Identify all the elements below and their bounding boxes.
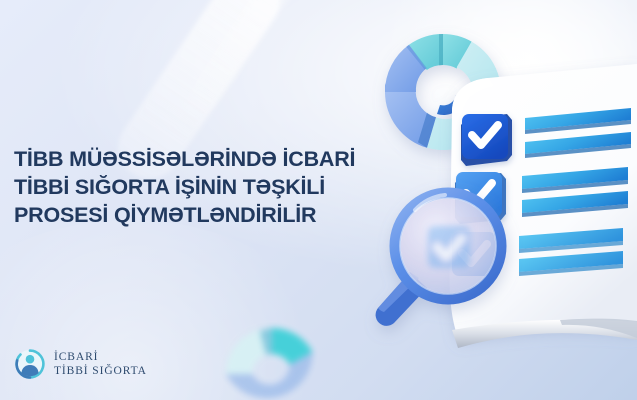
brand-name-line-1: İCBARİ <box>54 350 147 364</box>
headline-line-3: PROSESİ QİYMƏTLƏNDİRİLİR <box>14 202 414 230</box>
brand-logo-text: İCBARİ TİBBİ SIĞORTA <box>54 350 147 378</box>
checkbox-checked-icon <box>461 114 512 166</box>
banner-root: TİBB MÜƏSSİSƏLƏRİNDƏ İCBARİ TİBBİ SIĞORT… <box>0 0 637 400</box>
headline-line-1: TİBB MÜƏSSİSƏLƏRİNDƏ İCBARİ <box>14 146 414 174</box>
page-title: TİBB MÜƏSSİSƏLƏRİNDƏ İCBARİ TİBBİ SIĞORT… <box>14 146 414 230</box>
brand-logo: İCBARİ TİBBİ SIĞORTA <box>14 348 147 380</box>
headline-line-2: TİBBİ SIĞORTA İŞİNİN TƏŞKİLİ <box>14 174 414 202</box>
donut-chart-bottom-blurred <box>212 314 332 400</box>
brand-name-line-2: TİBBİ SIĞORTA <box>54 364 147 378</box>
insurance-logo-icon <box>14 348 46 380</box>
